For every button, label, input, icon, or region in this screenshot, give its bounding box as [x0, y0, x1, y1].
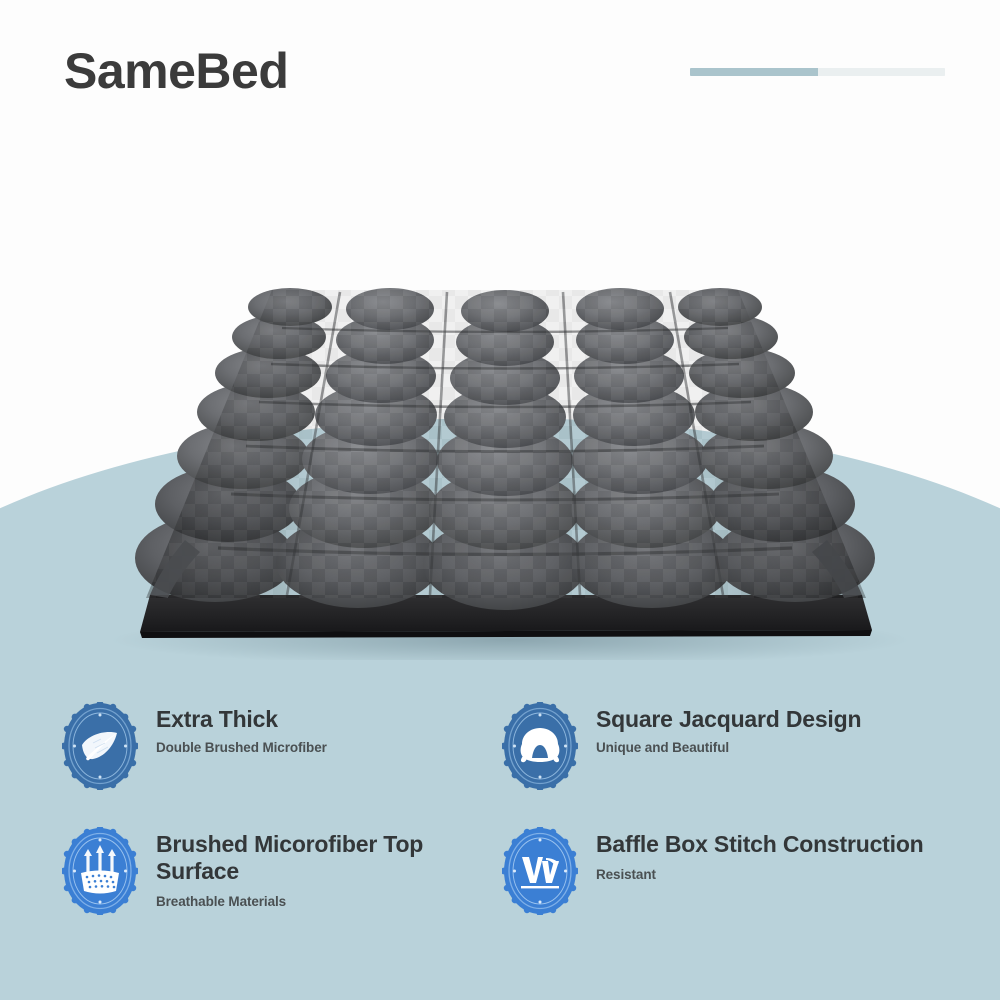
progress-bar-fill	[690, 68, 818, 76]
decorative-progress-bar	[690, 68, 945, 76]
feature-text: Brushed Micorofiber Top Surface Breathab…	[156, 825, 492, 909]
breathable-fabric-badge-icon	[62, 827, 138, 915]
feature-title: Square Jacquard Design	[596, 706, 861, 733]
feature-item-extra-thick: Extra Thick Double Brushed Microfiber	[62, 700, 492, 825]
feature-title: Extra Thick	[156, 706, 327, 733]
feature-title: Brushed Micorofiber Top Surface	[156, 831, 492, 885]
feature-title: Baffle Box Stitch Construction	[596, 831, 924, 858]
feature-subtitle: Double Brushed Microfiber	[156, 740, 327, 755]
feature-subtitle: Unique and Beautiful	[596, 740, 861, 755]
feature-text: Square Jacquard Design Unique and Beauti…	[596, 700, 861, 755]
feature-item-brushed-microfiber-top-surface: Brushed Micorofiber Top Surface Breathab…	[62, 825, 492, 950]
product-image-mattress-topper	[0, 140, 1000, 660]
feature-subtitle: Resistant	[596, 867, 924, 882]
feature-item-square-jacquard-design: Square Jacquard Design Unique and Beauti…	[502, 700, 932, 825]
infographic-stage: SameBed	[0, 0, 1000, 1000]
feature-text: Extra Thick Double Brushed Microfiber	[156, 700, 327, 755]
brand-wordmark: SameBed	[64, 46, 288, 96]
feature-text: Baffle Box Stitch Construction Resistant	[596, 825, 924, 882]
pillow-badge-icon	[502, 702, 578, 790]
feature-item-baffle-box-stitch-construction: Baffle Box Stitch Construction Resistant	[502, 825, 932, 950]
feather-badge-icon	[62, 702, 138, 790]
feature-subtitle: Breathable Materials	[156, 894, 492, 909]
progress-bar-track	[818, 68, 946, 76]
feature-grid: Extra Thick Double Brushed Microfiber	[0, 700, 1000, 950]
baffle-box-badge-icon	[502, 827, 578, 915]
